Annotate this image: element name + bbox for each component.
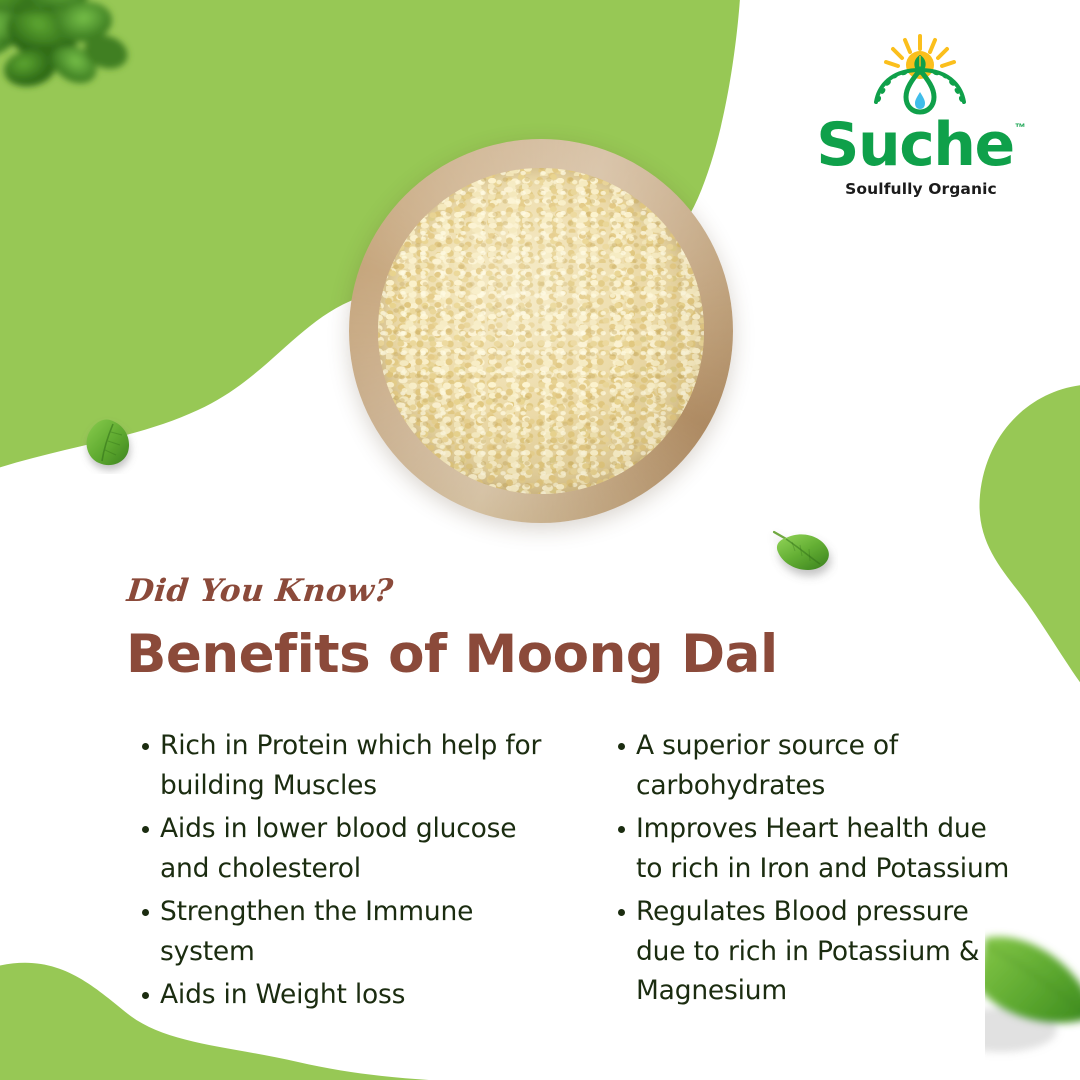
benefits-section: Rich in Protein which help for building …	[126, 726, 1026, 1019]
benefits-right-column: A superior source of carbohydratesImprov…	[602, 726, 1012, 1019]
benefit-item: Rich in Protein which help for building …	[126, 726, 550, 805]
small-leaf-left-icon	[80, 414, 140, 474]
trademark-symbol: ™	[1015, 122, 1026, 134]
benefit-item: Aids in Weight loss	[126, 975, 550, 1015]
green-blob-right	[930, 385, 1080, 685]
benefit-item: Strengthen the Immune system	[126, 892, 550, 971]
bowl-interior	[378, 168, 704, 494]
benefit-item: Aids in lower blood glucose and choleste…	[126, 809, 550, 888]
poster-canvas: Suche ™ Soulfully Organic Did You Know? …	[0, 0, 1080, 1080]
benefits-left-column: Rich in Protein which help for building …	[126, 726, 550, 1019]
brand-wordmark: Suche	[816, 114, 1013, 176]
moong-dal-bowl-image	[349, 139, 733, 523]
benefits-right-list: A superior source of carbohydratesImprov…	[602, 726, 1012, 1011]
sun-wheat-leaf-droplet-icon	[868, 34, 972, 120]
brand-logo: Suche ™ Soulfully Organic	[826, 34, 1016, 189]
kicker-text: Did You Know?	[125, 573, 395, 609]
brand-tagline: Soulfully Organic	[826, 180, 1016, 198]
page-title: Benefits of Moong Dal	[126, 624, 778, 685]
benefits-left-list: Rich in Protein which help for building …	[126, 726, 550, 1015]
benefit-item: Regulates Blood pressure due to rich in …	[602, 892, 1012, 1011]
dal-shading	[378, 168, 704, 494]
small-leaf-center-icon	[764, 518, 838, 586]
leafy-plant-icon	[0, 0, 150, 124]
benefit-item: A superior source of carbohydrates	[602, 726, 1012, 805]
benefit-item: Improves Heart health due to rich in Iro…	[602, 809, 1012, 888]
brand-wordmark-row: Suche ™	[826, 114, 1016, 176]
